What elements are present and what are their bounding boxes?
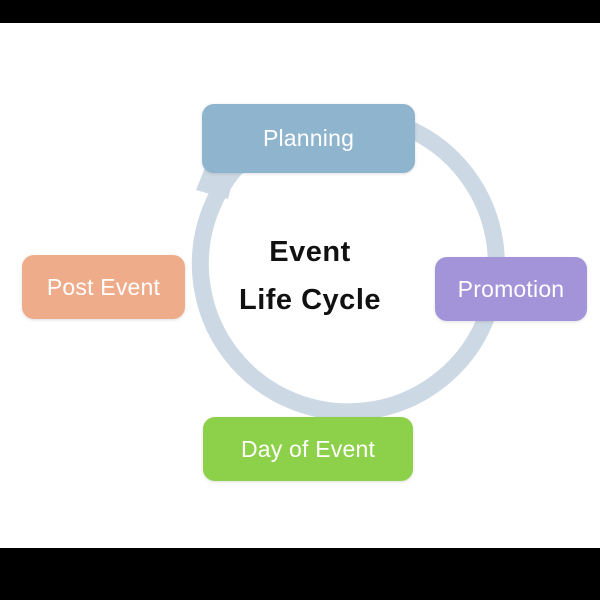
node-day-of-event[interactable]: Day of Event [203, 417, 413, 481]
diagram-canvas: Planning Promotion Day of Event Post Eve… [0, 23, 600, 548]
letterbox-bar-top [0, 0, 600, 23]
center-title-line-1: Event [180, 228, 440, 276]
node-planning[interactable]: Planning [202, 104, 415, 173]
letterbox-bar-bottom [0, 548, 600, 600]
node-promotion[interactable]: Promotion [435, 257, 587, 321]
diagram-stage: Planning Promotion Day of Event Post Eve… [0, 0, 600, 600]
node-planning-label: Planning [263, 127, 354, 150]
center-title-line-2: Life Cycle [180, 276, 440, 324]
node-post-event-label: Post Event [47, 276, 160, 299]
node-promotion-label: Promotion [458, 278, 565, 301]
node-post-event[interactable]: Post Event [22, 255, 185, 319]
node-day-of-event-label: Day of Event [241, 438, 375, 461]
diagram-center-title: Event Life Cycle [180, 228, 440, 324]
